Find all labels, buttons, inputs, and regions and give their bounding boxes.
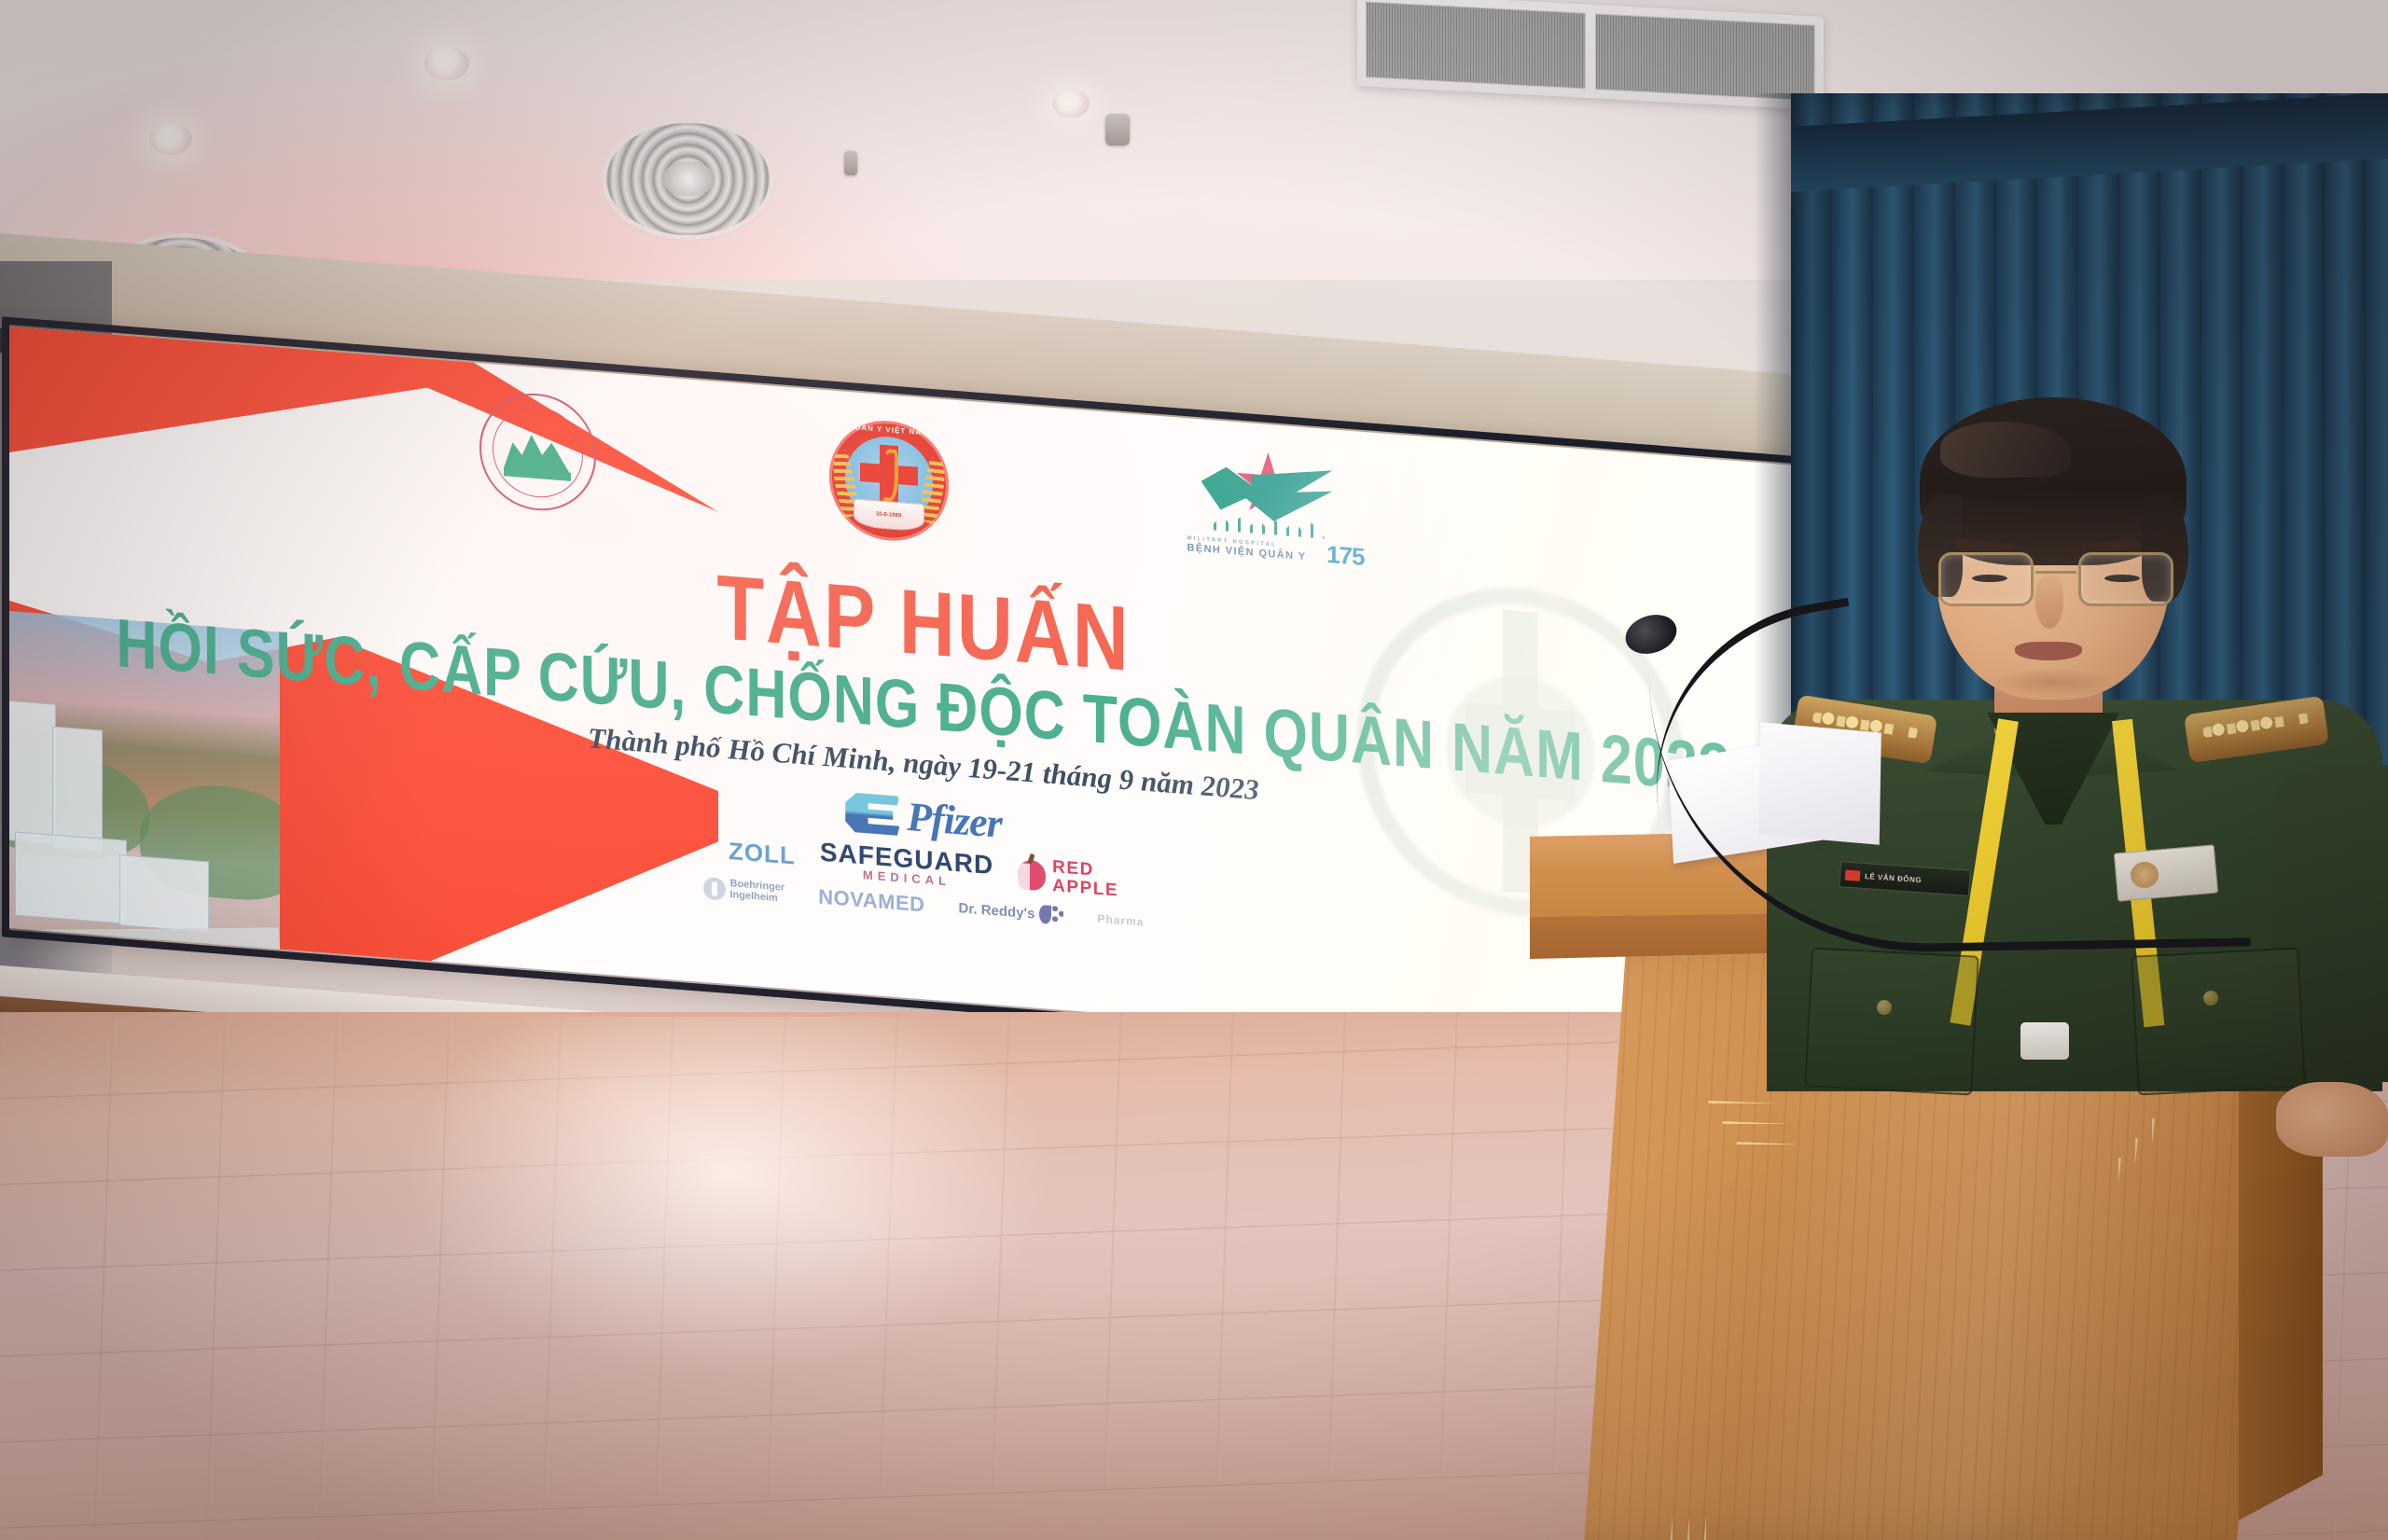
badge-clip — [2020, 1022, 2069, 1060]
grille-panel — [1595, 13, 1815, 101]
logo-quan-y-viet-nam-icon: QUÂN Y VIỆT NAM 10-6-1989 — [829, 416, 949, 545]
ceiling-downlight — [1052, 90, 1090, 118]
logo-175-number: 175 — [1326, 540, 1364, 572]
sprinkler-head — [844, 151, 857, 175]
pfizer-wordmark: Pfizer — [907, 793, 1002, 848]
pfizer-logo-icon — [845, 790, 899, 838]
sponsor-novamed: NOVAMED — [818, 884, 924, 917]
boehringer-logo-icon — [703, 877, 726, 901]
pocket-button — [2203, 991, 2218, 1006]
glasses-bridge — [2035, 571, 2076, 574]
apple-icon — [1018, 859, 1046, 891]
nose — [2035, 575, 2063, 629]
conference-hall-scene: QUÂN Y VIỆT NAM 10-6-1989 — [0, 0, 2388, 1540]
floor-light-reflection — [308, 1017, 1147, 1539]
uniform-pocket-left — [1804, 947, 1979, 1095]
red-apple-line2: APPLE — [1052, 877, 1118, 900]
grille-panel — [1366, 1, 1586, 89]
uniform-pocket-right — [2131, 947, 2306, 1095]
hand — [2276, 1082, 2388, 1157]
sponsor-boehringer: Boehringer Ingelheim — [703, 877, 785, 906]
dr-reddys-logo-icon — [1039, 903, 1063, 927]
boehringer-line2: Ingelheim — [730, 890, 785, 905]
ceiling-air-vent-round — [606, 123, 770, 235]
sprinkler-head — [1105, 114, 1130, 146]
right-lens — [2078, 552, 2173, 606]
left-lens — [1938, 552, 2034, 606]
ceiling-downlight — [424, 47, 469, 80]
podium-inlay-line — [1703, 1142, 2121, 1540]
sponsor-pharma: Pharma — [1097, 912, 1144, 929]
sponsor-safeguard: SAFEGUARD MEDICAL — [820, 839, 993, 892]
sponsor-dr-reddys: Dr. Reddy's — [959, 896, 1064, 927]
sponsor-zoll: ZOLL — [729, 837, 796, 871]
rank-pip — [2259, 716, 2273, 730]
logo-hoi-hoi-suc-icon — [479, 389, 596, 515]
pocket-button — [1877, 1000, 1892, 1015]
dr-reddys-name: Dr. Reddy's — [959, 900, 1035, 922]
sponsor-red-apple: RED APPLE — [1018, 855, 1118, 899]
ceiling-downlight — [149, 123, 192, 155]
logo-military-hospital-175-icon: MILITARY HOSPITAL BỆNH VIỆN QUÂN Y 175 — [1182, 444, 1368, 571]
